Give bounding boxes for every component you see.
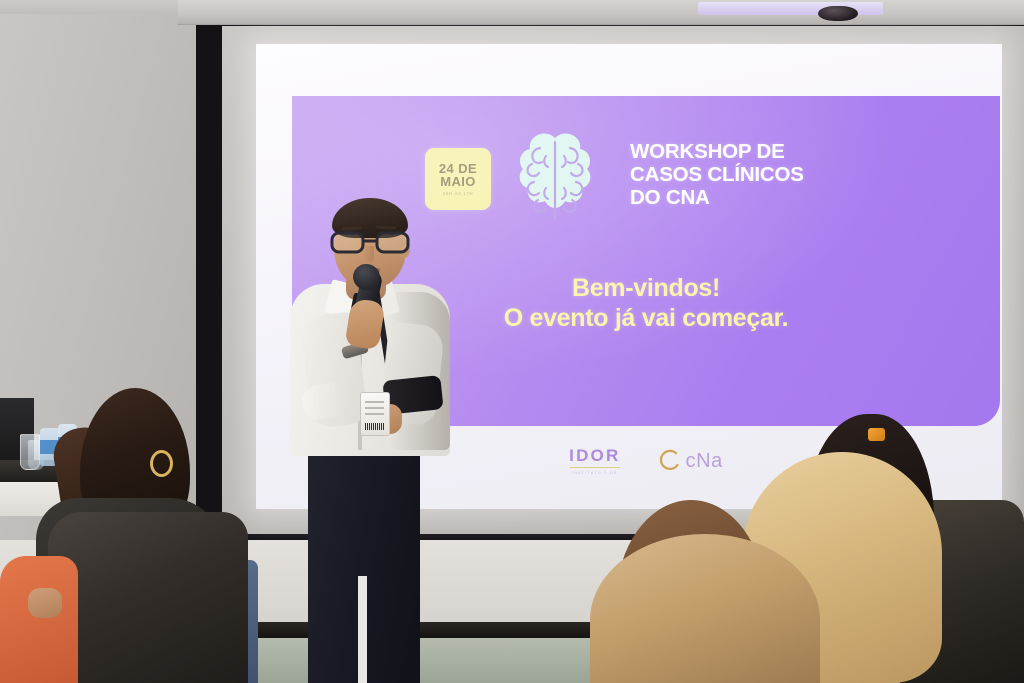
- slide-title-line-3: DO CNA: [630, 186, 960, 209]
- cna-logo-word: cNa: [685, 450, 722, 473]
- conference-room-photo: 24 DE MAIO 09H ÀS 17H: [0, 0, 1024, 683]
- projection-screen-housing: [178, 0, 1024, 25]
- lanyard-badge: [360, 392, 390, 436]
- badge-line-1: [365, 401, 384, 403]
- date-badge-line1: 24 DE: [439, 162, 477, 176]
- audience-orange-top: [0, 556, 78, 683]
- date-badge-line2: MAIO: [440, 175, 476, 189]
- presenter: [272, 196, 482, 683]
- presenter-nose: [364, 246, 374, 262]
- brain-illustration: [500, 130, 610, 230]
- hoop-earring: [150, 450, 173, 477]
- badge-line-2: [365, 407, 384, 409]
- slide-title: WORKSHOP DE CASOS CLÍNICOS DO CNA: [630, 140, 960, 209]
- audience-hand: [28, 588, 62, 618]
- slide-title-line-2: CASOS CLÍNICOS: [630, 163, 960, 186]
- idor-logo-rule: [570, 467, 620, 469]
- idor-logo-word: IDOR: [569, 447, 620, 464]
- ceiling-dome-camera: [818, 6, 858, 21]
- slide-title-line-1: WORKSHOP DE: [630, 140, 960, 163]
- badge-barcode: [365, 423, 385, 430]
- badge-line-3: [365, 413, 384, 415]
- cna-arc-icon: [656, 448, 682, 474]
- presenter-leg-gap: [358, 576, 367, 683]
- idor-logo: IDOR INSTITUTO D'OR: [569, 447, 620, 476]
- hair-clip: [868, 428, 885, 441]
- cna-logo: cNa: [656, 448, 722, 474]
- leather-chair-left: [48, 512, 248, 683]
- idor-logo-subtitle: INSTITUTO D'OR: [572, 471, 617, 475]
